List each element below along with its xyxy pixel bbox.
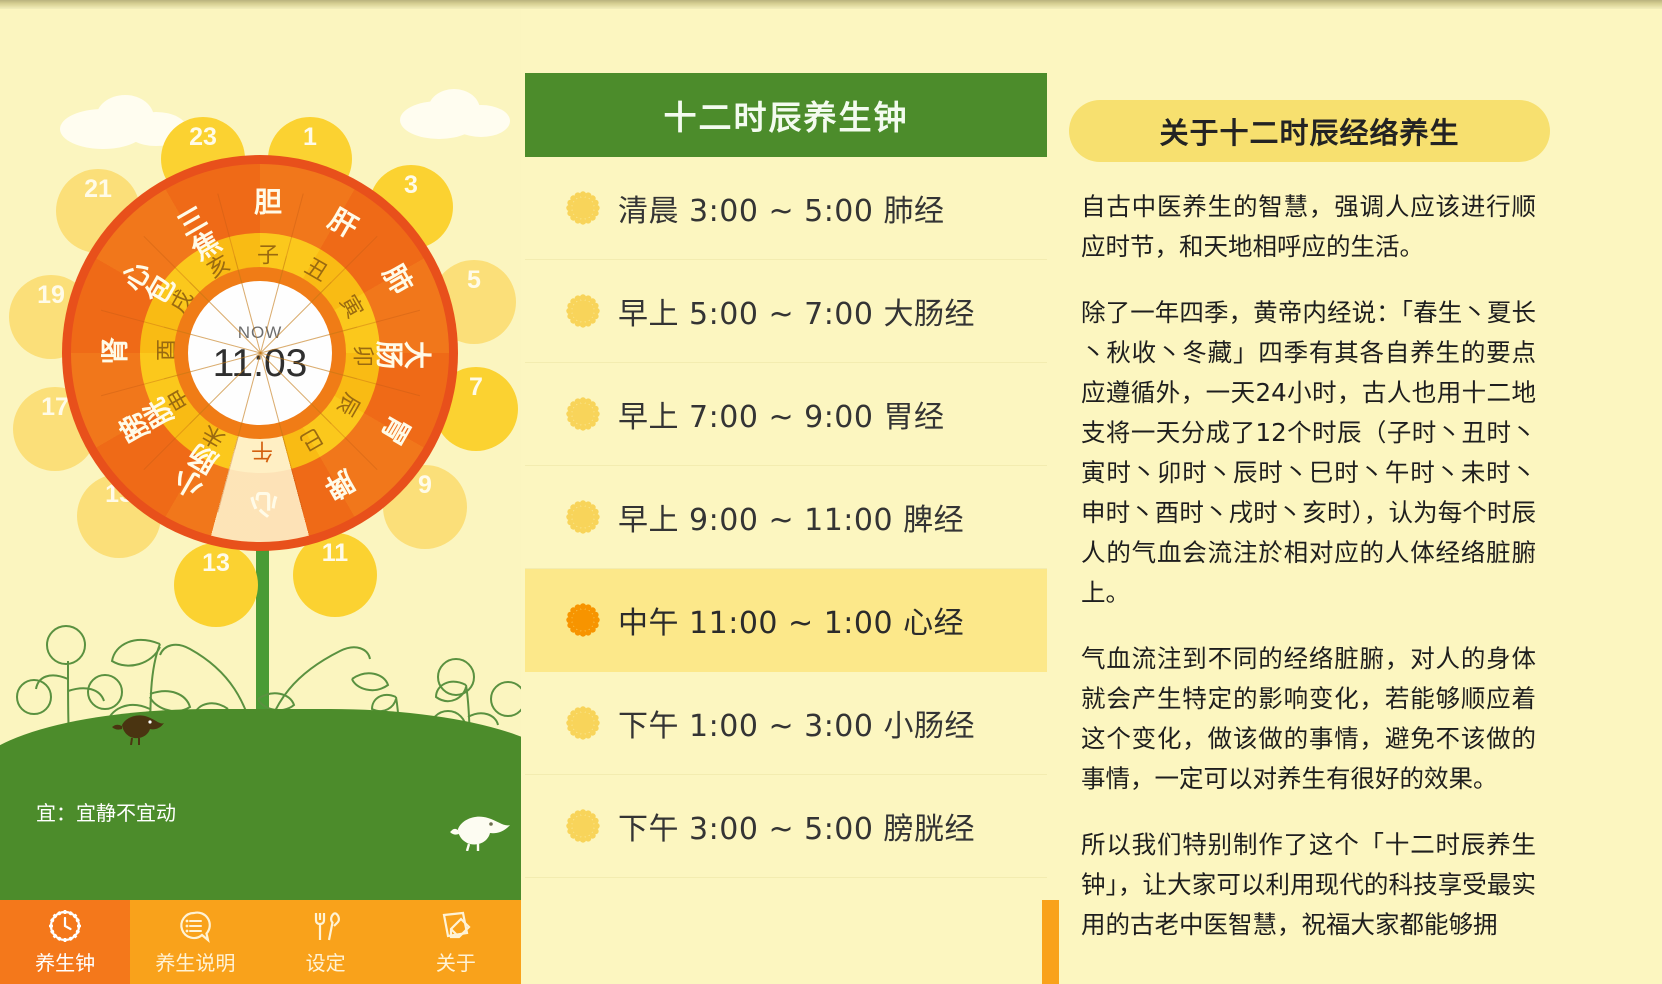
list-panel: 十二时辰养生钟 清晨 3:00 ~ 5:00 肺经早上 5:00 ~ 7:00 … (521, 9, 1059, 984)
hour-list-item-label: 早上 5:00 ~ 7:00 大肠经 (618, 289, 975, 333)
petal-number: 19 (37, 281, 65, 310)
petal-number: 7 (469, 373, 483, 402)
about-paragraph: 除了一年四季，黄帝内经说：「春生丶夏长丶秋收丶冬藏」四季有其各自养生的要点应遵循… (1081, 293, 1536, 613)
bird-icon (112, 709, 166, 745)
nav-item-guanyu[interactable]: 关于 (391, 900, 521, 984)
nav-item-label: 设定 (306, 947, 346, 976)
sun-icon (566, 397, 600, 431)
bird-icon (450, 809, 510, 851)
hour-list-item-label: 下午 1:00 ~ 3:00 小肠经 (618, 701, 975, 745)
hour-list-item[interactable]: 下午 1:00 ~ 3:00 小肠经 (525, 672, 1047, 775)
petal-number: 1 (303, 123, 317, 152)
nav-bar-1: 养生钟 养生说明 设定 (0, 900, 521, 984)
branch-label: 卯 (353, 337, 375, 369)
nav-item-label: 养生钟 (35, 947, 95, 976)
hour-list-item-label: 早上 9:00 ~ 11:00 脾经 (618, 495, 964, 539)
about-panel-title: 关于十二时辰经络养生 (1159, 110, 1459, 152)
app-screen: 1 3 5 7 9 11 13 15 17 19 21 23 胆肝肺大肠胃脾心小… (0, 0, 1662, 984)
nav-item-yangshengzhong[interactable]: 养生钟 (1042, 900, 1059, 984)
clock-panel: 1 3 5 7 9 11 13 15 17 19 21 23 胆肝肺大肠胃脾心小… (0, 9, 521, 984)
nav-item-yangshengshuoming[interactable]: 养生说明 (130, 900, 260, 984)
sun-icon (566, 294, 600, 328)
sun-icon (566, 706, 600, 740)
hour-list-item[interactable]: 中午 11:00 ~ 1:00 心经 (525, 569, 1047, 672)
petal-number: 13 (202, 549, 230, 578)
sun-icon (566, 809, 600, 843)
nav-item-sheding[interactable]: 设定 (261, 900, 391, 984)
about-paragraph: 自古中医养生的智慧，强调人应该进行顺应时节，和天地相呼应的生活。 (1081, 187, 1536, 267)
now-label: NOW (238, 323, 283, 343)
sun-icon (566, 500, 600, 534)
list-panel-header: 十二时辰养生钟 (525, 73, 1047, 157)
hour-list-item[interactable]: 下午 3:00 ~ 5:00 膀胱经 (525, 775, 1047, 878)
twelve-hour-wheel[interactable]: 胆肝肺大肠胃脾心小肠膀胱肾心包三焦 子丑寅卯辰巳午未申酉戌亥 NOW 11:03 (62, 155, 458, 551)
hour-list-item[interactable]: 早上 7:00 ~ 9:00 胃经 (525, 363, 1047, 466)
petal-number: 5 (467, 266, 481, 295)
nav-bar-2: 养生钟 养生说明 设定 (1042, 900, 1059, 984)
tools-icon (309, 909, 343, 943)
petal-13: 13 (174, 543, 258, 627)
nav-item-label: 养生说明 (155, 947, 235, 976)
about-paragraph: 气血流注到不同的经络脏腑，对人的身体就会产生特定的影响变化，若能够顺应着这个变化… (1081, 639, 1536, 799)
hour-list-item-label: 早上 7:00 ~ 9:00 胃经 (618, 392, 945, 436)
list-panel-title: 十二时辰养生钟 (664, 91, 909, 139)
about-panel-header: 关于十二时辰经络养生 (1069, 100, 1550, 162)
hour-list-item[interactable]: 清晨 3:00 ~ 5:00 肺经 (525, 157, 1047, 260)
hour-list-item-label: 清晨 3:00 ~ 5:00 肺经 (618, 186, 945, 230)
about-panel: 关于十二时辰经络养生 自古中医养生的智慧，强调人应该进行顺应时节，和天地相呼应的… (1059, 9, 1662, 984)
speech-list-icon (178, 909, 212, 943)
petal-number: 23 (189, 123, 217, 152)
hour-list-item-label: 中午 11:00 ~ 1:00 心经 (618, 598, 964, 642)
window-top-strip (0, 0, 1662, 9)
hour-list: 清晨 3:00 ~ 5:00 肺经早上 5:00 ~ 7:00 大肠经早上 7:… (525, 157, 1047, 878)
hour-list-item-label: 下午 3:00 ~ 5:00 膀胱经 (618, 804, 975, 848)
clock-gear-icon (48, 909, 82, 943)
branch-label: 午 (249, 441, 281, 463)
branch-label: 子 (249, 243, 281, 265)
hour-list-item[interactable]: 早上 5:00 ~ 7:00 大肠经 (525, 260, 1047, 363)
branch-label: 辰 (333, 383, 368, 422)
about-paragraph: 所以我们特别制作了这个「十二时辰养生钟」，让大家可以利用现代的科技享受最实用的古… (1081, 825, 1536, 945)
notepad-pen-icon (439, 909, 473, 943)
sun-icon (566, 191, 600, 225)
hour-list-item[interactable]: 早上 9:00 ~ 11:00 脾经 (525, 466, 1047, 569)
daily-advice-text: 宜：宜静不宜动 (36, 797, 176, 826)
sun-icon (566, 603, 600, 637)
nav-item-label: 关于 (436, 947, 476, 976)
about-body: 自古中医养生的智慧，强调人应该进行顺应时节，和天地相呼应的生活。除了一年四季，黄… (1081, 187, 1536, 971)
nav-item-yangshengzhong[interactable]: 养生钟 (0, 900, 130, 984)
